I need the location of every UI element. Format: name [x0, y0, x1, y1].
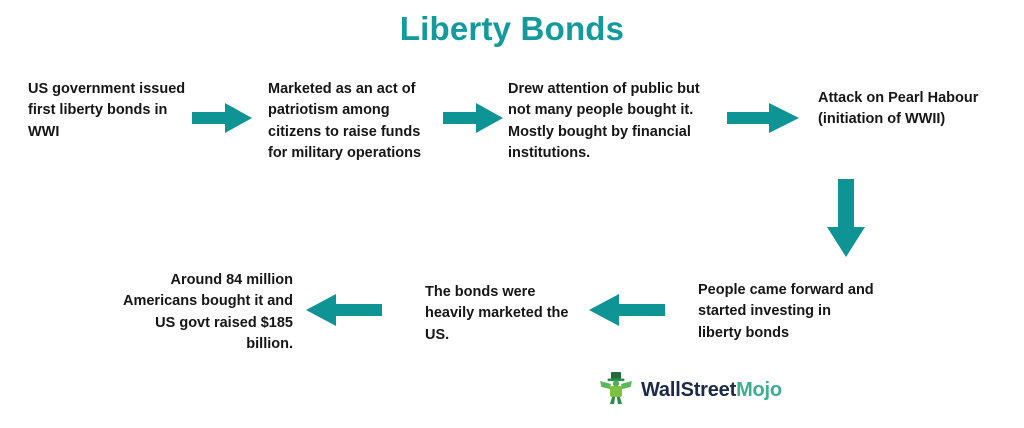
logo-wordmark: WallStreetMojo	[641, 379, 782, 402]
arrow-right-icon-2	[443, 101, 505, 135]
flow-node-7: Around 84 million Americans bought it an…	[118, 270, 293, 355]
diagram-canvas: Liberty Bonds US government issued first…	[0, 0, 1024, 428]
arrow-right-icon-3	[727, 101, 799, 135]
page-title: Liberty Bonds	[0, 10, 1024, 48]
logo-text-accent: Mojo	[736, 379, 782, 401]
flow-node-4: Attack on Pearl Habour (initiation of WW…	[818, 88, 1003, 131]
flow-node-5: People came forward and started investin…	[698, 280, 878, 344]
arrow-left-icon-2	[304, 292, 382, 328]
arrow-right-icon-1	[192, 101, 254, 135]
flow-node-3: Drew attention of public but not many pe…	[508, 79, 708, 164]
arrow-down-icon-1	[822, 179, 870, 259]
arrow-left-icon-1	[587, 292, 665, 328]
flow-node-6: The bonds were heavily marketed the US.	[425, 282, 575, 346]
logo-text-primary: WallStreet	[641, 379, 736, 401]
wallstreetmojo-logo[interactable]: WallStreetMojo	[598, 371, 782, 410]
flow-node-2: Marketed as an act of patriotism among c…	[268, 79, 443, 164]
wallstreetmojo-bull-tophat-icon	[598, 371, 634, 410]
flow-node-1: US government issued first liberty bonds…	[28, 79, 188, 143]
